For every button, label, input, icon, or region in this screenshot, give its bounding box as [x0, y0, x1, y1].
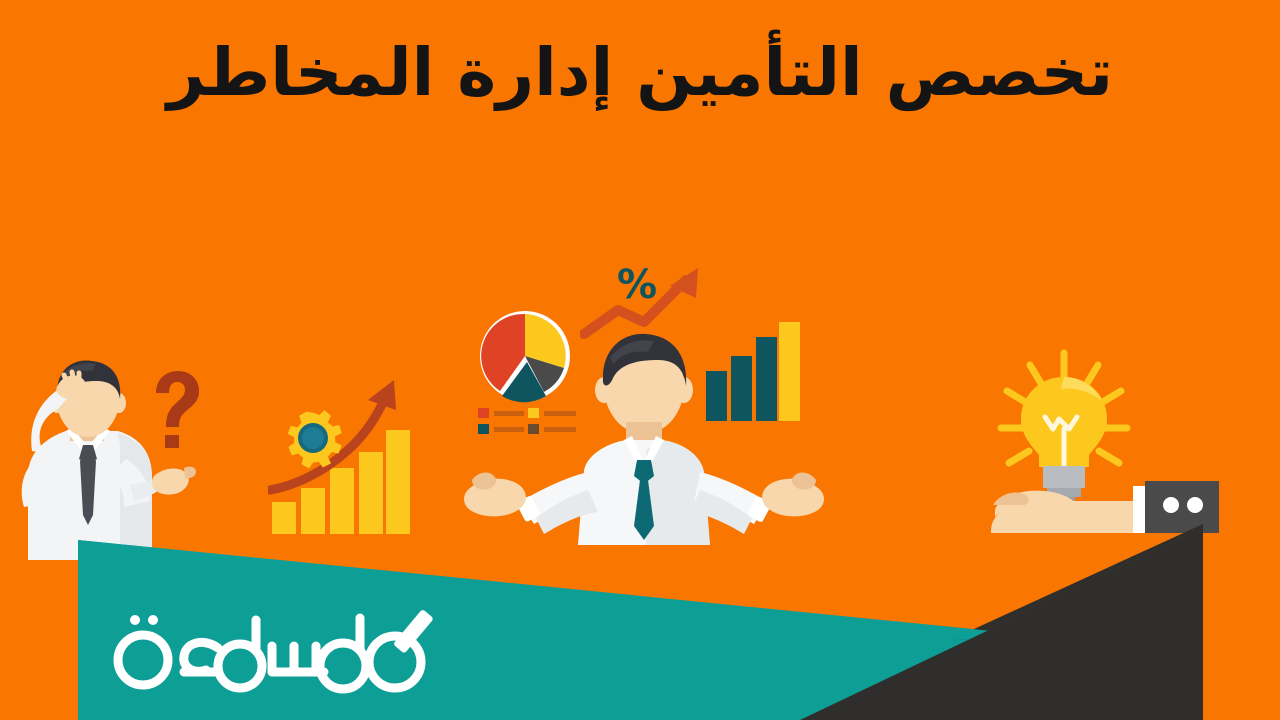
ear-right: [675, 377, 693, 403]
bulb-base: [1043, 466, 1085, 488]
logo-letter-waw2: [218, 620, 262, 688]
fingers-right: [792, 473, 816, 490]
thumbnail-canvas: تخصص التأمين إدارة المخاطر: [0, 0, 1280, 720]
title-text: تخصص التأمين إدارة المخاطر: [167, 37, 1113, 110]
logo-text: موسوعة: [88, 693, 92, 695]
logo-letter-ta-marbuta: [118, 615, 168, 685]
logo-letter-ain: [184, 642, 218, 672]
magnifier-icon: [369, 609, 434, 688]
percent-symbol: %: [617, 262, 657, 308]
logo-letter-seen: [272, 646, 324, 672]
fingers-left: [472, 473, 496, 490]
brand-logo[interactable]: موسوعة: [88, 598, 458, 696]
open-palm: [152, 469, 189, 495]
page-title: تخصص التأمين إدارة المخاطر: [0, 18, 1280, 128]
logo-letter-waw: [320, 618, 366, 689]
question-mark-icon: [156, 371, 199, 448]
ear-right: [112, 393, 126, 413]
thumb: [184, 467, 196, 479]
fingers-on-head: [64, 372, 79, 385]
